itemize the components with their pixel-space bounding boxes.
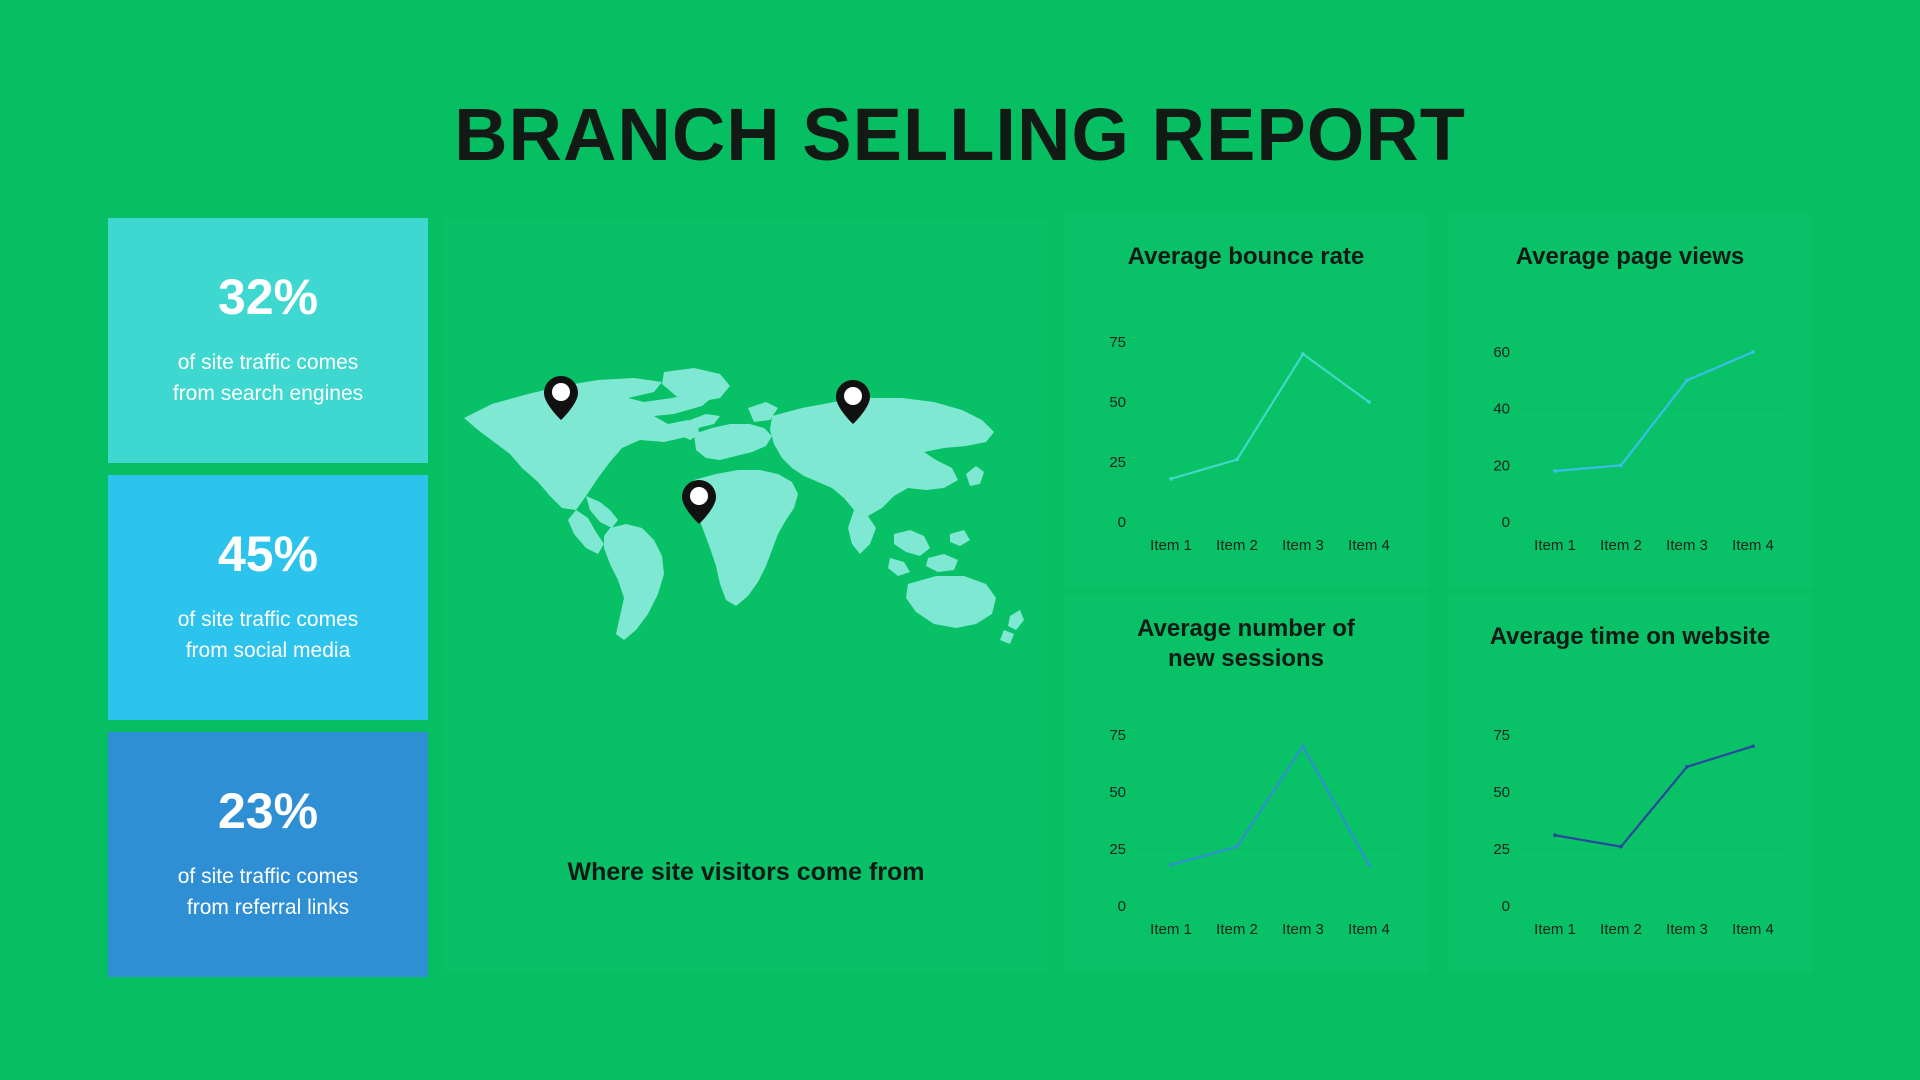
stat-description-line2: from referral links: [187, 896, 349, 919]
chart-data-point: [1235, 458, 1239, 462]
y-axis-tick-label: 75: [1493, 727, 1510, 744]
stat-value: 23%: [218, 786, 318, 836]
y-axis-tick-label: 50: [1493, 784, 1510, 801]
x-axis-tick-label: Item 3: [1666, 537, 1708, 554]
chart-data-point: [1169, 477, 1173, 481]
chart-data-point: [1619, 845, 1623, 849]
chart-data-point: [1685, 378, 1689, 382]
map-pin-asia-russia[interactable]: [836, 380, 870, 424]
x-axis-tick-label: Item 3: [1282, 537, 1324, 554]
chart-panel-average-page-views[interactable]: Average page views 0204060Item 1Item 2It…: [1448, 214, 1812, 588]
y-axis-tick-label: 0: [1502, 514, 1510, 531]
y-axis-tick-label: 0: [1118, 514, 1126, 531]
chart-panel-average-bounce-rate[interactable]: Average bounce rate 0255075Item 1Item 2I…: [1064, 214, 1428, 588]
x-axis-tick-label: Item 2: [1216, 537, 1258, 554]
stat-description-line2: from search engines: [173, 382, 363, 405]
stat-card-social-media[interactable]: 45% of site traffic comes from social me…: [108, 475, 428, 720]
y-axis-tick-label: 0: [1118, 898, 1126, 915]
stat-description: of site traffic comes from social media: [178, 605, 359, 666]
chart-line-series: [1171, 746, 1369, 865]
map-caption: Where site visitors come from: [444, 858, 1048, 887]
world-map[interactable]: [458, 358, 1034, 658]
chart-line-series: [1555, 352, 1753, 471]
stat-description: of site traffic comes from search engine…: [173, 348, 363, 409]
chart-plot-area: 0204060Item 1Item 2Item 3Item 4: [1448, 214, 1812, 588]
y-axis-tick-label: 20: [1493, 457, 1510, 474]
x-axis-tick-label: Item 4: [1348, 921, 1390, 938]
x-axis-tick-label: Item 2: [1600, 537, 1642, 554]
stat-description-line1: of site traffic comes: [178, 351, 359, 374]
y-axis-tick-label: 60: [1493, 344, 1510, 361]
stat-card-referral-links[interactable]: 23% of site traffic comes from referral …: [108, 732, 428, 977]
y-axis-tick-label: 75: [1109, 727, 1126, 744]
x-axis-tick-label: Item 2: [1600, 921, 1642, 938]
chart-data-point: [1367, 400, 1371, 404]
chart-panel-average-time-on-website[interactable]: Average time on website 0255075Item 1Ite…: [1448, 594, 1812, 972]
x-axis-tick-label: Item 3: [1666, 921, 1708, 938]
y-axis-tick-label: 50: [1109, 394, 1126, 411]
chart-data-point: [1751, 744, 1755, 748]
y-axis-tick-label: 50: [1109, 784, 1126, 801]
stats-column: 32% of site traffic comes from search en…: [108, 218, 428, 977]
x-axis-tick-label: Item 3: [1282, 921, 1324, 938]
map-pin-north-america[interactable]: [544, 376, 578, 420]
chart-plot-area: 0255075Item 1Item 2Item 3Item 4: [1064, 214, 1428, 588]
chart-data-point: [1169, 863, 1173, 867]
chart-panel-average-number-of-new-sessions[interactable]: Average number of new sessions 0255075It…: [1064, 594, 1428, 972]
chart-data-point: [1553, 469, 1557, 473]
x-axis-tick-label: Item 4: [1732, 921, 1774, 938]
world-map-panel: Where site visitors come from: [444, 218, 1048, 972]
chart-data-point: [1553, 833, 1557, 837]
x-axis-tick-label: Item 4: [1732, 537, 1774, 554]
x-axis-tick-label: Item 1: [1150, 921, 1192, 938]
y-axis-tick-label: 75: [1109, 334, 1126, 351]
x-axis-tick-label: Item 1: [1150, 537, 1192, 554]
y-axis-tick-label: 25: [1109, 454, 1126, 471]
chart-data-point: [1685, 765, 1689, 769]
y-axis-tick-label: 25: [1493, 841, 1510, 858]
chart-plot-area: 0255075Item 1Item 2Item 3Item 4: [1064, 594, 1428, 972]
x-axis-tick-label: Item 1: [1534, 537, 1576, 554]
y-axis-tick-label: 0: [1502, 898, 1510, 915]
x-axis-tick-label: Item 4: [1348, 537, 1390, 554]
chart-data-point: [1619, 463, 1623, 467]
stat-description-line1: of site traffic comes: [178, 865, 359, 888]
chart-data-point: [1301, 744, 1305, 748]
chart-line-series: [1555, 746, 1753, 846]
chart-data-point: [1751, 350, 1755, 354]
map-pin-central-africa[interactable]: [682, 480, 716, 524]
stat-value: 45%: [218, 529, 318, 579]
x-axis-tick-label: Item 1: [1534, 921, 1576, 938]
chart-data-point: [1367, 863, 1371, 867]
page-title: BRANCH SELLING REPORT: [0, 98, 1920, 172]
report-canvas: BRANCH SELLING REPORT 32% of site traffi…: [0, 0, 1920, 1080]
stat-description-line1: of site traffic comes: [178, 608, 359, 631]
stat-card-search-engines[interactable]: 32% of site traffic comes from search en…: [108, 218, 428, 463]
stat-description: of site traffic comes from referral link…: [178, 862, 359, 923]
chart-plot-area: 0255075Item 1Item 2Item 3Item 4: [1448, 594, 1812, 972]
y-axis-tick-label: 40: [1493, 401, 1510, 418]
chart-data-point: [1301, 352, 1305, 356]
chart-data-point: [1235, 845, 1239, 849]
stat-value: 32%: [218, 272, 318, 322]
chart-line-series: [1171, 354, 1369, 479]
y-axis-tick-label: 25: [1109, 841, 1126, 858]
x-axis-tick-label: Item 2: [1216, 921, 1258, 938]
stat-description-line2: from social media: [186, 639, 351, 662]
